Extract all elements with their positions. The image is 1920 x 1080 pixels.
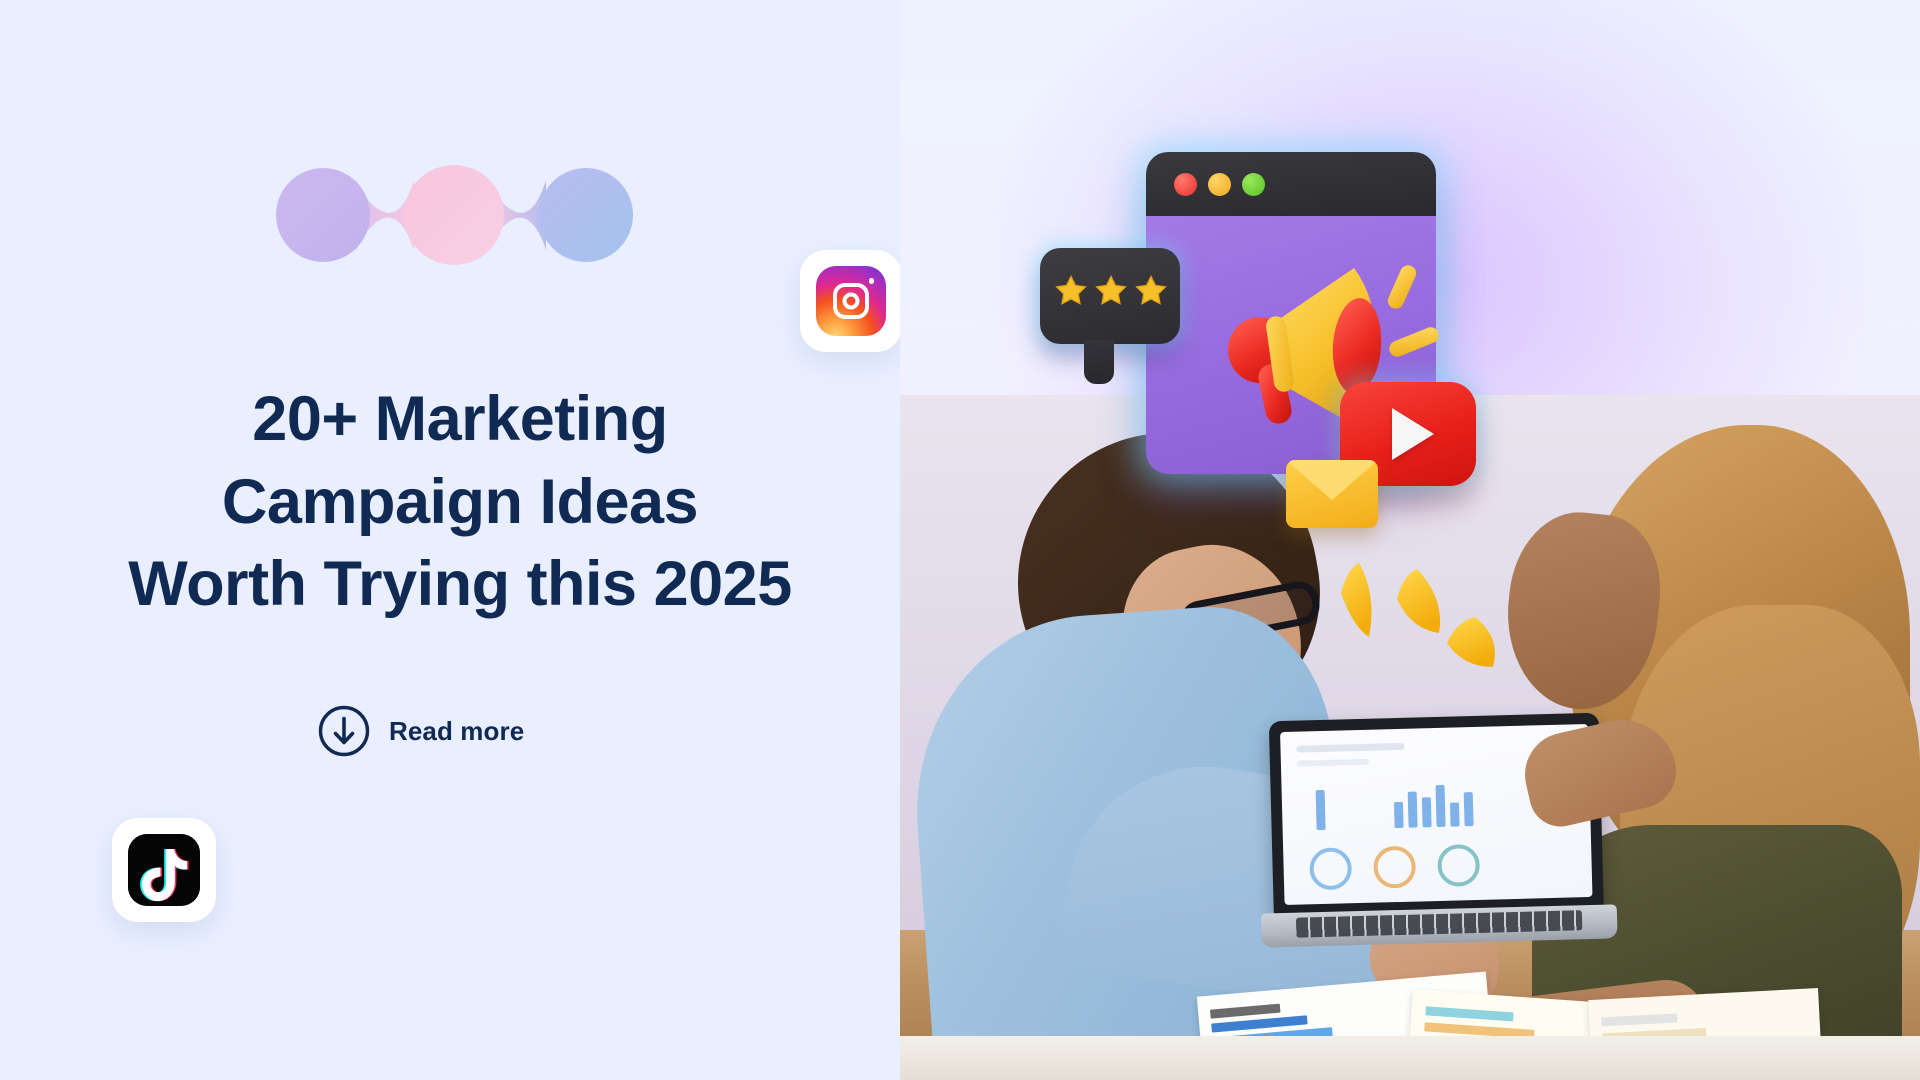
envelope-icon [1286,460,1378,528]
circle-arrow-down-icon [318,705,370,757]
banner-stage: 20+ Marketing Campaign Ideas Worth Tryin… [0,0,1920,1080]
desk-front-edge [900,1036,1920,1080]
sparkle-marks [1325,555,1515,695]
dashboard-subtitle-bar [1297,759,1369,767]
dashboard-bar [1316,790,1326,830]
dashboard-bar [1422,797,1432,827]
dashboard-bar [1394,802,1404,828]
headline-line-2: Campaign Ideas [30,461,890,544]
copy-column: 20+ Marketing Campaign Ideas Worth Tryin… [0,0,900,1080]
traffic-light-maximize [1242,173,1265,196]
dashboard-bar [1450,802,1460,826]
tiktok-tile[interactable] [112,818,216,922]
dashboard-bar [1436,785,1446,827]
dashboard-bar [1408,792,1418,828]
traffic-light-close [1174,173,1197,196]
star-rating-bubble [1040,248,1180,344]
dashboard-donuts [1309,844,1480,890]
headline-line-1: 20+ Marketing [30,378,890,461]
instagram-tile[interactable] [800,250,902,352]
star-row [1054,274,1168,308]
headline-line-3: Worth Trying this 2025 [30,543,890,626]
instagram-lens [843,293,860,310]
donut-gauge [1437,844,1480,887]
instagram-flash-dot [869,278,875,284]
read-more-button[interactable]: Read more [318,705,524,757]
instagram-icon [816,266,886,336]
donut-gauge [1309,847,1352,890]
star-icon [1134,274,1168,308]
browser-titlebar [1146,152,1436,216]
donut-gauge [1373,846,1416,889]
marketing-3d-illustration [1040,130,1500,550]
play-icon [1392,408,1434,460]
page-title: 20+ Marketing Campaign Ideas Worth Tryin… [30,378,890,626]
star-icon [1094,274,1128,308]
read-more-label: Read more [389,716,524,747]
decorative-blobs [268,160,678,270]
tiktok-icon [128,834,200,906]
star-icon [1054,274,1088,308]
envelope-flap [1286,460,1378,500]
bubble-tail [1084,340,1114,384]
dashboard-title-bar [1296,743,1404,753]
traffic-light-minimize [1208,173,1231,196]
dashboard-bar [1464,792,1474,826]
